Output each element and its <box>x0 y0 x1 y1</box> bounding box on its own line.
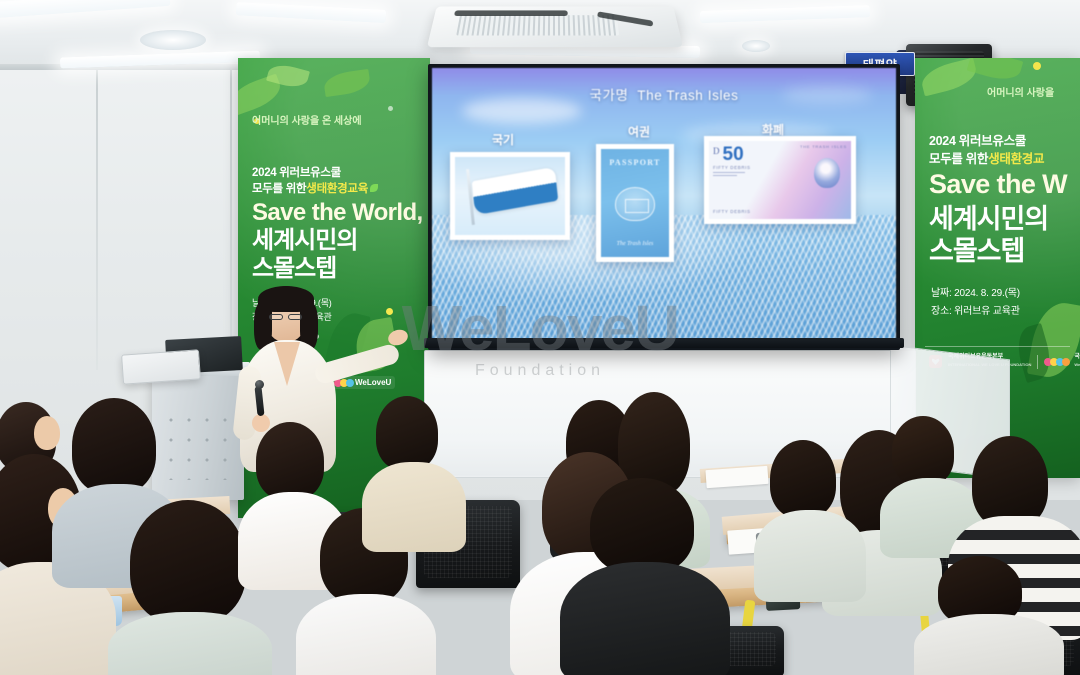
banner-right-title-kr-1: 세계시민의 <box>929 204 1048 234</box>
logo-welove-text: 국제위러브유운동본부 WeLoveU Foundation <box>1074 354 1080 369</box>
passport-word: PASSPORT <box>609 158 660 167</box>
card-currency: D 50 FIFTY DEBRIS FIFTY DEBRIS THE TRASH… <box>704 136 856 224</box>
passport-crest-icon <box>615 187 655 221</box>
presenter-glasses <box>288 314 302 320</box>
dot-decoration <box>388 106 393 111</box>
passport-image: PASSPORT The Trash Isles <box>601 149 669 257</box>
slide-title: 국가명 The Trash Isles <box>432 84 896 104</box>
banner-left-title-kr-1: 세계시민의 <box>252 228 357 255</box>
attendee <box>760 440 860 590</box>
banner-left-line1: 2024 위러브유스쿨 <box>252 164 341 180</box>
banknote-line <box>713 175 737 176</box>
banner-right-line1: 2024 위러브유스쿨 <box>929 130 1026 149</box>
attendee-body <box>362 462 466 552</box>
attendee-hair <box>590 478 694 574</box>
welove-dots-icon <box>1044 358 1068 366</box>
banner-left-tagline: 어머니의 사랑을 온 세상에 <box>252 112 362 127</box>
attendee-hair <box>892 416 954 486</box>
attendee-hair <box>72 398 156 494</box>
ceiling-downlight-2 <box>742 40 770 52</box>
flag-cloth <box>471 167 557 216</box>
leaf-decoration <box>323 69 372 97</box>
presenter-arm-right <box>313 343 401 386</box>
banner-right-date: 날짜: 2024. 8. 29.(목) <box>931 284 1020 299</box>
logo-divider <box>1037 355 1038 369</box>
attendee-body <box>754 510 866 602</box>
wall-seam-left <box>96 70 98 370</box>
projection-screen: 국가명 The Trash Isles 국기 여권 화폐 PASSPORT <box>428 64 900 350</box>
banknote-denom-words: FIFTY DEBRIS <box>713 165 759 170</box>
presenter-glasses <box>269 314 283 320</box>
screen-bottom-bar <box>424 338 904 348</box>
banner-right-line2-highlight: 생태환경교 <box>988 148 1044 167</box>
slide-label-flag: 국기 <box>492 131 514 148</box>
banknote-image: D 50 FIFTY DEBRIS FIFTY DEBRIS THE TRASH… <box>709 141 851 219</box>
flag-illustration <box>455 157 565 235</box>
banner-right-tagline: 어머니의 사랑을 <box>987 84 1054 99</box>
attendee-body <box>560 562 730 675</box>
banner-left-title-kr-2: 스몰스텝 <box>252 256 336 283</box>
card-passport: PASSPORT The Trash Isles <box>596 144 674 262</box>
attendee-body <box>108 612 272 675</box>
attendee <box>560 478 730 675</box>
banknote-denom-value: 50 <box>723 146 744 163</box>
attendee-hair <box>376 396 438 470</box>
ac-grill <box>456 15 619 35</box>
ac-vane-left <box>454 10 568 16</box>
attendee-body <box>296 594 436 675</box>
lecture-room-photo: 태평양 어머니의 사랑을 온 세상에 2024 위러브유스쿨 모두를 위한 생태… <box>0 0 1080 675</box>
attendee-hair <box>972 436 1048 528</box>
banknote-right-panel: THE TRASH ISLES <box>763 141 851 219</box>
slide-label-passport: 여권 <box>628 123 650 140</box>
banknote-denom-letter: D <box>713 146 720 156</box>
microphone-head <box>255 380 264 389</box>
attendee <box>366 396 460 538</box>
attendee-hair <box>256 422 324 500</box>
banner-right-line2-plain: 모두를 위한 <box>929 148 988 167</box>
attendee-hair <box>770 440 836 518</box>
banner-left-line2-highlight: 생태환경교육 <box>306 180 368 196</box>
ceiling-downlight <box>140 30 206 50</box>
banknote-left-panel: D 50 FIFTY DEBRIS FIFTY DEBRIS <box>709 141 763 219</box>
banknote-footer-text: FIFTY DEBRIS <box>713 209 751 214</box>
banner-right-title-kr-2: 스몰스텝 <box>929 236 1024 266</box>
leaf-decoration <box>967 58 1024 85</box>
card-flag <box>450 152 570 240</box>
passport-country: The Trash Isles <box>617 241 654 247</box>
banknote-seal-motif <box>814 158 840 188</box>
laptop <box>121 349 201 384</box>
passport-cover: PASSPORT The Trash Isles <box>601 149 669 257</box>
leaf-icon <box>370 184 378 192</box>
attendee-body <box>914 614 1064 675</box>
banknote: D 50 FIFTY DEBRIS FIFTY DEBRIS THE TRASH… <box>709 141 851 219</box>
flag-image <box>455 157 565 235</box>
attendee <box>914 556 1064 675</box>
banner-right-title-en: Save the W <box>929 170 1067 198</box>
air-conditioner-unit <box>427 6 683 47</box>
banner-right-divider <box>925 346 1070 347</box>
presentation-slide: 국가명 The Trash Isles 국기 여권 화폐 PASSPORT <box>432 68 896 346</box>
banner-right-place: 장소: 위러브유 교육관 <box>931 302 1020 317</box>
banknote-top-text: THE TRASH ISLES <box>800 144 847 149</box>
dot-decoration <box>1033 62 1041 70</box>
attendee-hair <box>130 500 246 624</box>
banknote-line <box>713 172 745 173</box>
banner-left-line2-plain: 모두를 위한 <box>252 180 306 196</box>
attendee-head <box>34 416 60 450</box>
banner-left-title-en: Save the World, <box>252 200 423 225</box>
